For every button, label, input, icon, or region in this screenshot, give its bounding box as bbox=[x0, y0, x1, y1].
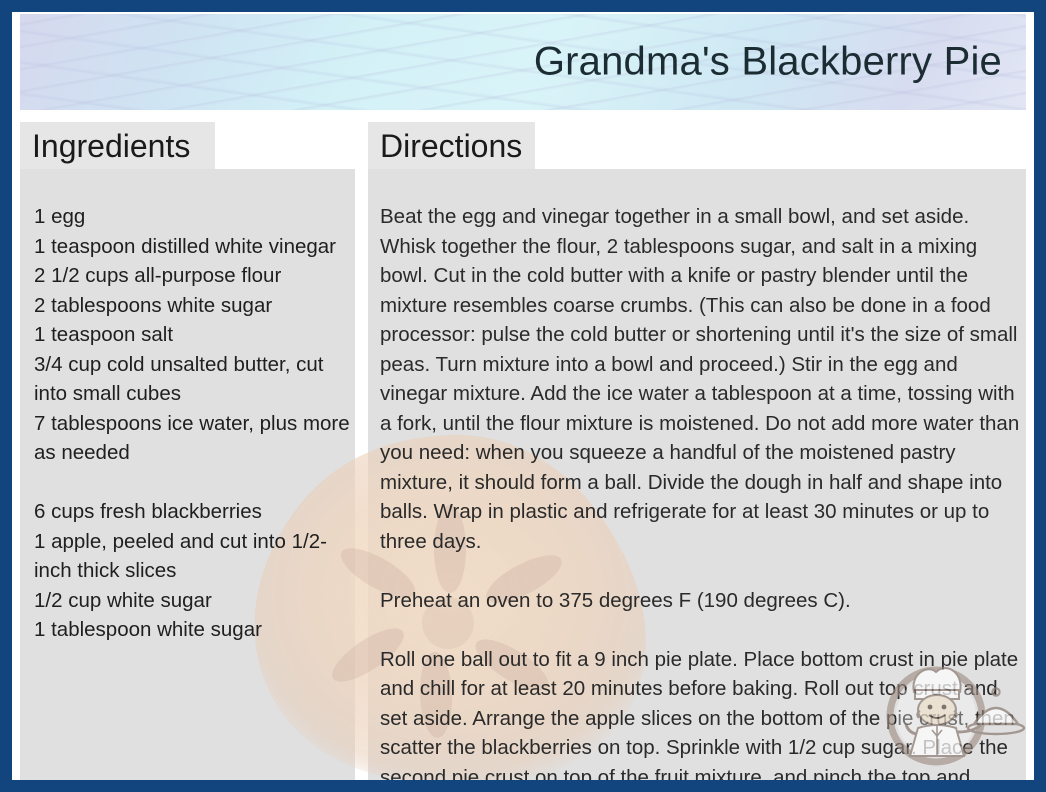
ingredients-list: 1 egg 1 teaspoon distilled white vinegar… bbox=[34, 202, 359, 645]
recipe-page: Grandma's Blackberry Pie bbox=[12, 12, 1034, 780]
list-item: 1 teaspoon distilled white vinegar bbox=[34, 232, 359, 262]
ingredients-heading-label: Ingredients bbox=[32, 130, 190, 162]
directions-paragraph: Roll one ball out to fit a 9 inch pie pl… bbox=[380, 645, 1028, 781]
directions-paragraph: Beat the egg and vinegar together in a s… bbox=[380, 202, 1028, 556]
list-item: 1 apple, peeled and cut into 1/2-inch th… bbox=[34, 527, 359, 586]
title-banner: Grandma's Blackberry Pie bbox=[20, 14, 1026, 110]
directions-heading: Directions bbox=[368, 122, 535, 169]
list-item: 1/2 cup white sugar bbox=[34, 586, 359, 616]
recipe-card: Grandma's Blackberry Pie bbox=[0, 0, 1046, 792]
list-item: 6 cups fresh blackberries bbox=[34, 497, 359, 527]
list-item: 1 egg bbox=[34, 202, 359, 232]
directions-text: Beat the egg and vinegar together in a s… bbox=[380, 202, 1028, 780]
directions-heading-label: Directions bbox=[380, 130, 522, 162]
list-item: 7 tablespoons ice water, plus more as ne… bbox=[34, 409, 359, 468]
list-item: 2 1/2 cups all-purpose flour bbox=[34, 261, 359, 291]
list-item: 1 tablespoon white sugar bbox=[34, 615, 359, 645]
directions-paragraph: Preheat an oven to 375 degrees F (190 de… bbox=[380, 586, 1028, 616]
list-item: 2 tablespoons white sugar bbox=[34, 291, 359, 321]
list-item: 3/4 cup cold unsalted butter, cut into s… bbox=[34, 350, 359, 409]
ingredients-heading: Ingredients bbox=[20, 122, 215, 169]
list-item: 1 teaspoon salt bbox=[34, 320, 359, 350]
ingredients-group-separator bbox=[34, 468, 359, 498]
page-title: Grandma's Blackberry Pie bbox=[534, 40, 1002, 85]
